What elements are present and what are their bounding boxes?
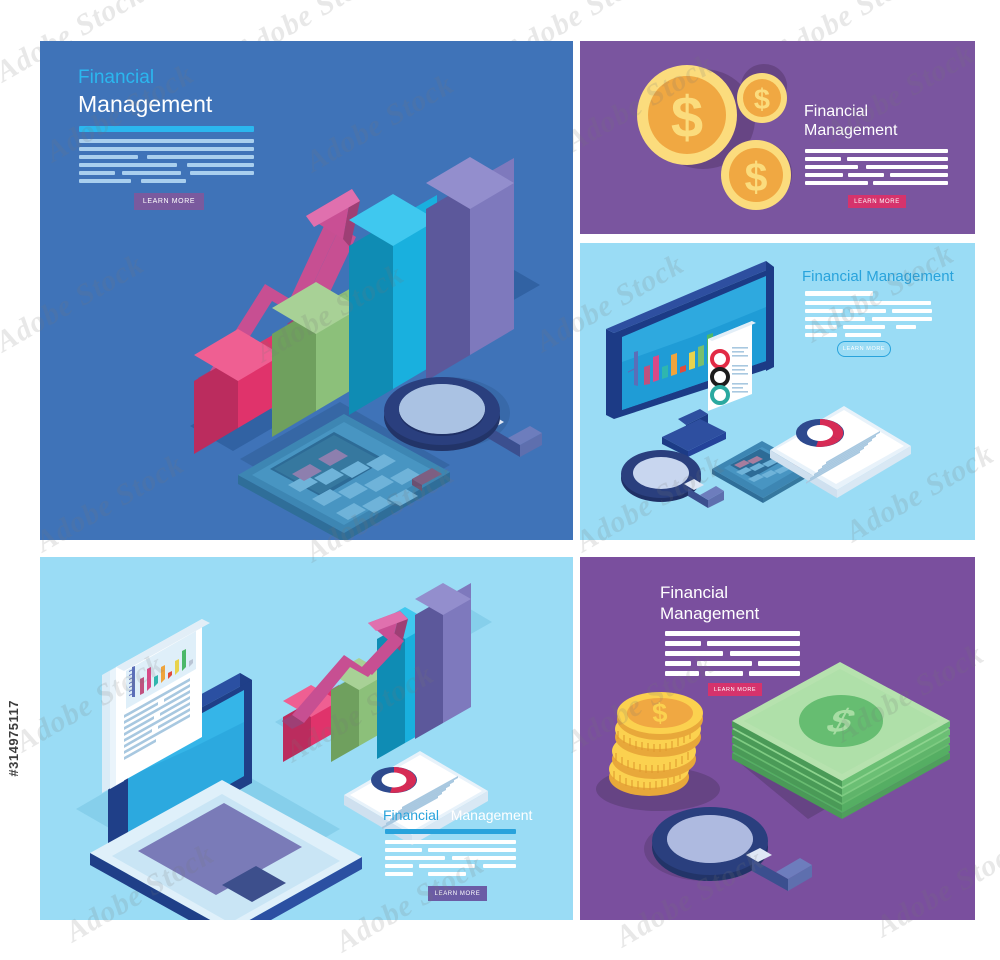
text-line: [805, 301, 931, 305]
panel5-title-part1: Financial: [660, 583, 728, 602]
text-line: [697, 661, 752, 666]
text-line: [665, 641, 701, 646]
text-line: [141, 179, 186, 183]
panel1-learn-more-button[interactable]: LEARN MORE: [134, 193, 204, 210]
panel1-title: Financial: [78, 67, 154, 89]
text-line: [79, 147, 254, 151]
text-line: [730, 651, 800, 656]
text-line: [805, 317, 865, 321]
poster-canvas: Adobe Stock Adobe Stock Adobe Stock Adob…: [0, 0, 1000, 960]
text-line: [385, 872, 413, 876]
text-line: [805, 333, 837, 337]
text-line: [805, 173, 843, 177]
text-line: [749, 671, 800, 676]
panel5-title: Financial: [660, 583, 728, 603]
panel3-title: Financial Management: [802, 268, 954, 285]
coin-stack-icon: $: [608, 689, 718, 799]
panel1-title-part1: Financial: [78, 67, 154, 88]
panel4-title: Financial Management: [383, 807, 532, 823]
panel1-accent-rule: [79, 126, 254, 132]
svg-text:$: $: [754, 84, 770, 116]
svg-text:$: $: [652, 698, 669, 729]
text-line: [805, 149, 948, 153]
text-line: [843, 325, 885, 329]
text-line: [190, 171, 254, 175]
text-line: [850, 309, 886, 313]
text-line: [483, 864, 516, 868]
text-line: [805, 157, 841, 161]
text-line: [848, 173, 884, 177]
text-line: [872, 317, 932, 321]
panel5-title-part2: Management: [660, 604, 759, 623]
panel1-title-2: Management: [78, 91, 212, 118]
text-line: [705, 671, 743, 676]
panel-laptop: Financial Management LEARN MORE: [40, 557, 573, 920]
svg-text:$: $: [671, 85, 703, 150]
text-line: [147, 155, 254, 159]
text-line: [79, 163, 177, 167]
panel-bar-chart-calculator: Financial Management LEARN MORE: [40, 41, 573, 540]
text-line: [758, 661, 800, 666]
svg-text:$: $: [745, 154, 768, 200]
panel3-learn-more-button[interactable]: LEARN MORE: [837, 341, 891, 357]
panel5-title-2: Management: [660, 604, 759, 624]
text-line: [847, 157, 948, 161]
text-line: [385, 848, 422, 852]
text-line: [805, 165, 858, 169]
text-line: [79, 155, 138, 159]
text-line: [805, 291, 873, 296]
text-line: [805, 181, 868, 185]
panel4-title-part1: Financial: [383, 807, 439, 823]
text-line: [428, 872, 466, 876]
text-line: [805, 309, 843, 313]
text-line: [805, 325, 837, 329]
panel4-title-part2: Management: [451, 807, 533, 823]
text-line: [890, 173, 948, 177]
text-line: [665, 661, 691, 666]
text-line: [122, 171, 181, 175]
panel-monitor: Financial Management LEARN MORE: [580, 243, 975, 540]
text-line: [452, 856, 516, 860]
text-line: [665, 631, 800, 636]
text-line: [845, 333, 881, 337]
panel4-accent-rule: [385, 829, 516, 834]
text-line: [665, 651, 723, 656]
coin-small-icon: $: [736, 72, 792, 128]
text-line: [873, 181, 948, 185]
text-line: [866, 165, 948, 169]
donut-report-document: [342, 735, 507, 865]
magnifier-icon: [648, 797, 818, 917]
magnifier-icon: [380, 359, 550, 474]
panel-money: $: [580, 557, 975, 920]
text-line: [892, 309, 932, 313]
panel2-title-part2: Management: [804, 122, 897, 139]
text-line: [187, 163, 254, 167]
text-line: [428, 848, 516, 852]
panel4-learn-more-button[interactable]: LEARN MORE: [428, 886, 487, 901]
text-line: [385, 864, 413, 868]
panel2-title-part1: Financial: [804, 103, 868, 120]
text-line: [385, 840, 516, 844]
text-line: [79, 179, 131, 183]
panel2-title: Financial: [804, 103, 868, 121]
panel-coins: $ $ $ Financial Management LEARN: [580, 41, 975, 234]
text-line: [79, 171, 115, 175]
panel1-title-part2: Management: [78, 91, 212, 117]
report-document: [768, 386, 913, 516]
text-line: [385, 856, 445, 860]
report-document: [102, 623, 272, 823]
coin-medium-icon: $: [720, 139, 796, 215]
text-line: [419, 864, 475, 868]
panel2-learn-more-button[interactable]: LEARN MORE: [848, 195, 906, 208]
text-line: [707, 641, 800, 646]
text-line: [896, 325, 916, 329]
text-line: [665, 671, 699, 676]
text-line: [79, 139, 254, 143]
panel2-title-2: Management: [804, 122, 897, 140]
panel5-learn-more-button[interactable]: LEARN MORE: [708, 683, 762, 696]
stock-id-label: #314975117: [6, 700, 21, 777]
